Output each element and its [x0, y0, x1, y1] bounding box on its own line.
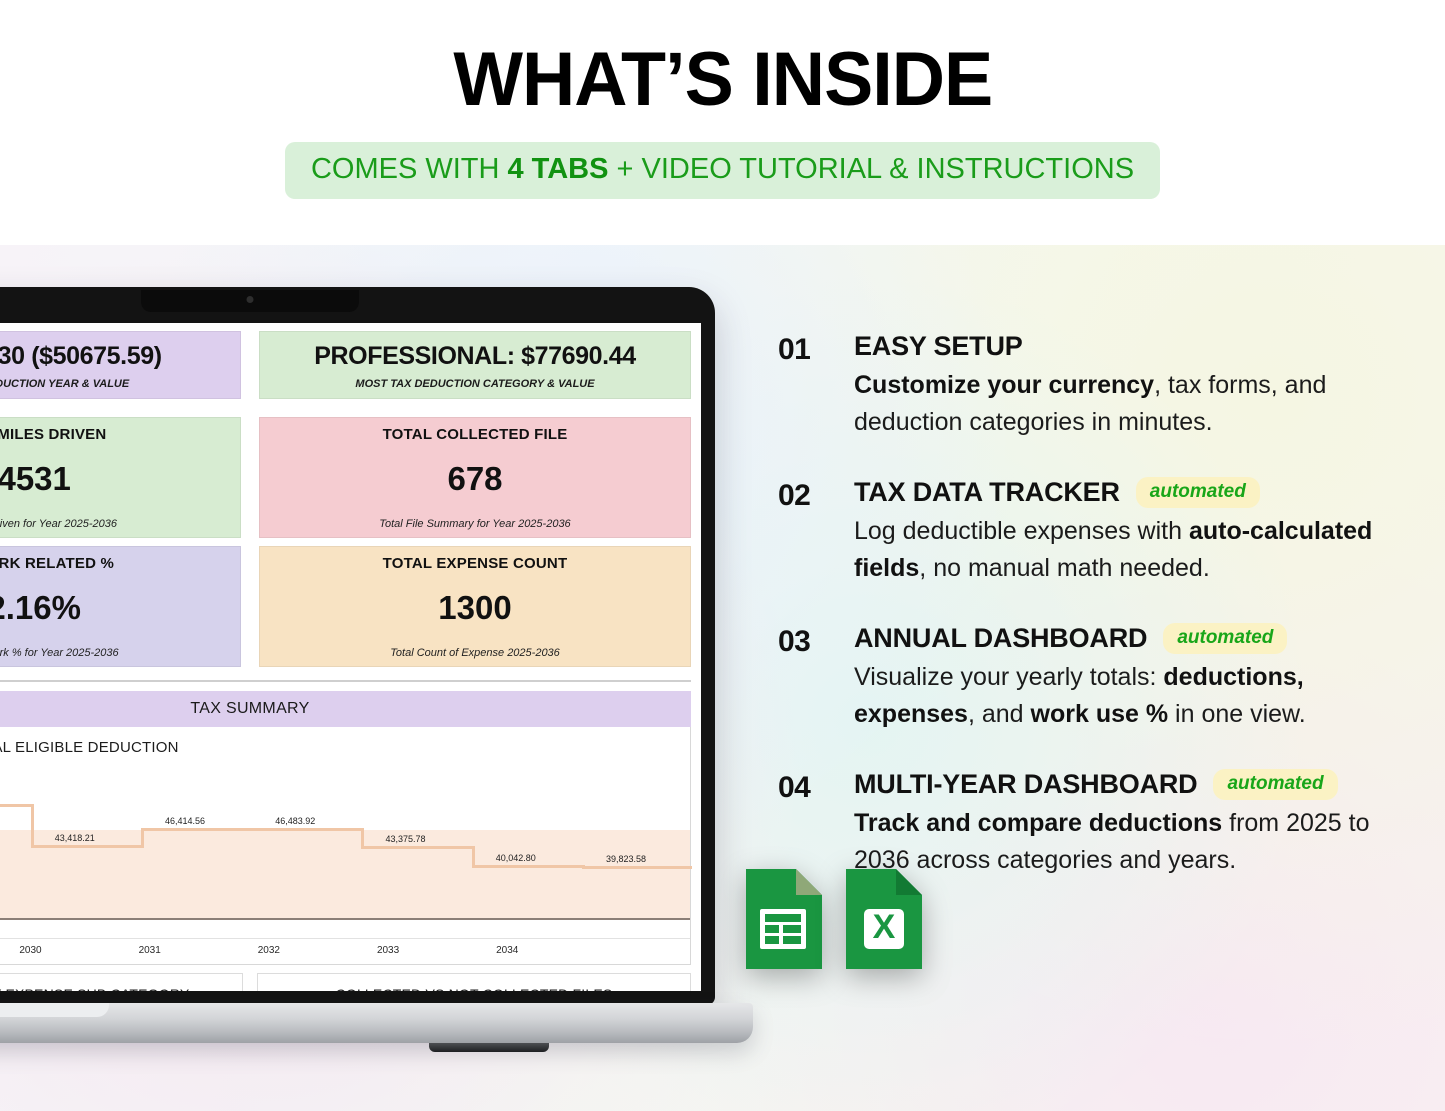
badge-text-strong: 4 TABS [507, 153, 608, 185]
feature-title: EASY SETUP [854, 331, 1023, 362]
feature-title: TAX DATA TRACKER [854, 477, 1120, 508]
kpi-label: AVG WORK RELATED % [0, 555, 234, 572]
feature-desc-text: in one view. [1168, 700, 1306, 728]
laptop-lid: YEAR: 2030 ($50675.59) MOST TAX DEDUCTIO… [0, 287, 715, 1005]
kpi-most-deduction-category: PROFESSIONAL: $77690.44 MOST TAX DEDUCTI… [259, 331, 691, 399]
chart-step-riser [141, 828, 144, 848]
google-sheets-file-icon [740, 865, 826, 973]
chart-step-segment [0, 804, 31, 807]
chart-step-riser [582, 865, 585, 869]
feature-title: ANNUAL DASHBOARD [854, 623, 1147, 654]
chart-point-label: 39,823.58 [606, 854, 646, 864]
chart-step-segment [251, 828, 361, 831]
badge-text-pre: COMES WITH [311, 153, 508, 185]
kpi-headline-caption: MOST TAX DEDUCTION CATEGORY & VALUE [266, 378, 684, 390]
laptop-trackpad-notch [0, 1003, 109, 1017]
feature-desc-emphasis: Track and compare deductions [854, 809, 1222, 837]
kpi-row-1: TOTAL MILES DRIVEN 54531 Total Miles Dri… [0, 417, 691, 538]
feature-body: TAX DATA TRACKERautomatedLog deductible … [854, 477, 1408, 587]
kpi-footnote: Total AVG Work % for Year 2025-2036 [0, 647, 234, 659]
feature-item-02: 02TAX DATA TRACKERautomatedLog deductibl… [778, 477, 1408, 587]
chart-x-tick: 2031 [139, 945, 161, 956]
chart-plot-area: 40,614.2250,675.5943,418.2146,414.5646,4… [0, 770, 690, 938]
chart-point-label: 46,483.92 [275, 816, 315, 826]
tabs-info-badge: COMES WITH 4 TABS + VIDEO TUTORIAL & INS… [285, 142, 1160, 199]
page-header: WHAT’S INSIDE COMES WITH 4 TABS + VIDEO … [0, 0, 1445, 245]
kpi-row-2: AVG WORK RELATED % 72.16% Total AVG Work… [0, 546, 691, 667]
pie-card-expense-subcategory: TAX DEDUCTION BY EXPENSE SUB CATEGORY 4.… [0, 973, 243, 991]
kpi-headline-value: PROFESSIONAL: $77690.44 [266, 342, 684, 371]
feature-list: 01EASY SETUPCustomize your currency, tax… [778, 331, 1408, 915]
pie-card-collected-vs-not: COLLECTED VS NOT COLLECTED FILES [257, 973, 691, 991]
laptop-foot [429, 1043, 549, 1052]
feature-item-03: 03ANNUAL DASHBOARDautomatedVisualize you… [778, 623, 1408, 733]
kpi-headline-row: YEAR: 2030 ($50675.59) MOST TAX DEDUCTIO… [0, 331, 691, 399]
feature-desc-text: , no manual math needed. [919, 554, 1209, 582]
feature-desc-emphasis: work use % [1031, 700, 1169, 728]
kpi-total-collected-file: TOTAL COLLECTED FILE 678 Total File Summ… [259, 417, 691, 538]
automated-badge: automated [1163, 623, 1287, 654]
excel-file-icon: X [840, 865, 926, 973]
kpi-headline-caption: MOST TAX DEDUCTION YEAR & VALUE [0, 378, 234, 390]
chart-step-riser [31, 804, 34, 848]
chart-step-segment [582, 866, 692, 869]
feature-body: MULTI-YEAR DASHBOARDautomatedTrack and c… [854, 769, 1408, 879]
chart-point-label: 43,418.21 [55, 833, 95, 843]
feature-heading-row: TAX DATA TRACKERautomated [854, 477, 1408, 508]
chart-step-riser [251, 828, 254, 831]
feature-description: Track and compare deductions from 2025 t… [854, 805, 1408, 879]
feature-title: MULTI-YEAR DASHBOARD [854, 769, 1197, 800]
feature-heading-row: EASY SETUP [854, 331, 1408, 362]
camera-icon [247, 296, 254, 303]
badge-text-post: + VIDEO TUTORIAL & INSTRUCTIONS [608, 153, 1134, 185]
feature-desc-emphasis: Customize your currency [854, 371, 1154, 399]
feature-item-01: 01EASY SETUPCustomize your currency, tax… [778, 331, 1408, 441]
pie-charts-row: TAX DEDUCTION BY EXPENSE SUB CATEGORY 4.… [0, 973, 691, 991]
chart-title: YEAR WISE TOTAL ELIGIBLE DEDUCTION [0, 739, 690, 756]
feature-desc-text: Log deductible expenses with [854, 517, 1189, 545]
laptop-base [0, 1003, 753, 1043]
chart-step-segment [361, 846, 471, 849]
feature-heading-row: ANNUAL DASHBOARDautomated [854, 623, 1408, 654]
kpi-footnote: Total Miles Driven for Year 2025-2036 [0, 518, 234, 530]
chart-point-label: 40,042.80 [496, 853, 536, 863]
chart-step-riser [472, 846, 475, 868]
tax-summary-header: TAX SUMMARY [0, 691, 691, 727]
laptop-screen: YEAR: 2030 ($50675.59) MOST TAX DEDUCTIO… [0, 323, 701, 991]
feature-description: Log deductible expenses with auto-calcul… [854, 513, 1408, 587]
spreadsheet-dashboard: YEAR: 2030 ($50675.59) MOST TAX DEDUCTIO… [0, 323, 701, 991]
feature-body: ANNUAL DASHBOARDautomatedVisualize your … [854, 623, 1408, 733]
section-divider [0, 680, 691, 682]
chart-x-axis: 202920302031203220332034 [0, 938, 690, 964]
page-title: WHAT’S INSIDE [453, 40, 992, 120]
feature-number: 01 [778, 331, 854, 441]
file-format-icons: X [740, 865, 926, 973]
kpi-value: 54531 [0, 460, 234, 498]
kpi-most-deduction-year: YEAR: 2030 ($50675.59) MOST TAX DEDUCTIO… [0, 331, 241, 399]
kpi-total-miles-driven: TOTAL MILES DRIVEN 54531 Total Miles Dri… [0, 417, 241, 538]
chart-baseline [0, 918, 690, 920]
feature-heading-row: MULTI-YEAR DASHBOARDautomated [854, 769, 1408, 800]
automated-badge: automated [1213, 769, 1337, 800]
kpi-footnote: Total Count of Expense 2025-2036 [266, 647, 684, 659]
feature-description: Customize your currency, tax forms, and … [854, 367, 1408, 441]
feature-desc-text: Visualize your yearly totals: [854, 663, 1163, 691]
kpi-avg-work-related: AVG WORK RELATED % 72.16% Total AVG Work… [0, 546, 241, 667]
year-wise-deduction-chart-card: YEAR WISE TOTAL ELIGIBLE DEDUCTION 40,61… [0, 727, 691, 965]
chart-x-tick: 2030 [19, 945, 41, 956]
kpi-headline-value: YEAR: 2030 ($50675.59) [0, 342, 234, 371]
feature-description: Visualize your yearly totals: deductions… [854, 659, 1408, 733]
feature-number: 02 [778, 477, 854, 587]
kpi-value: 678 [266, 460, 684, 498]
kpi-value: 72.16% [0, 589, 234, 627]
feature-desc-text: , and [968, 700, 1031, 728]
kpi-label: TOTAL COLLECTED FILE [266, 426, 684, 443]
automated-badge: automated [1136, 477, 1260, 508]
chart-x-tick: 2033 [377, 945, 399, 956]
chart-x-tick: 2032 [258, 945, 280, 956]
feature-number: 04 [778, 769, 854, 879]
chart-step-segment [31, 845, 141, 848]
feature-item-04: 04MULTI-YEAR DASHBOARDautomatedTrack and… [778, 769, 1408, 879]
chart-x-tick: 2034 [496, 945, 518, 956]
kpi-value: 1300 [266, 589, 684, 627]
kpi-label: TOTAL MILES DRIVEN [0, 426, 234, 443]
kpi-label: TOTAL EXPENSE COUNT [266, 555, 684, 572]
kpi-footnote: Total File Summary for Year 2025-2036 [266, 518, 684, 530]
chart-step-segment [472, 865, 582, 868]
gradient-stage: YEAR: 2030 ($50675.59) MOST TAX DEDUCTIO… [0, 245, 1445, 1111]
laptop-mockup: YEAR: 2030 ($50675.59) MOST TAX DEDUCTIO… [0, 287, 715, 1057]
feature-number: 03 [778, 623, 854, 733]
chart-point-label: 46,414.56 [165, 816, 205, 826]
chart-area-fill [0, 830, 690, 920]
kpi-total-expense-count: TOTAL EXPENSE COUNT 1300 Total Count of … [259, 546, 691, 667]
chart-step-segment [141, 828, 251, 831]
pie-title: COLLECTED VS NOT COLLECTED FILES [258, 986, 690, 991]
pie-title: TAX DEDUCTION BY EXPENSE SUB CATEGORY [0, 986, 242, 991]
svg-text:X: X [873, 908, 896, 946]
chart-point-label: 43,375.78 [386, 834, 426, 844]
feature-body: EASY SETUPCustomize your currency, tax f… [854, 331, 1408, 441]
chart-step-riser [361, 828, 364, 849]
